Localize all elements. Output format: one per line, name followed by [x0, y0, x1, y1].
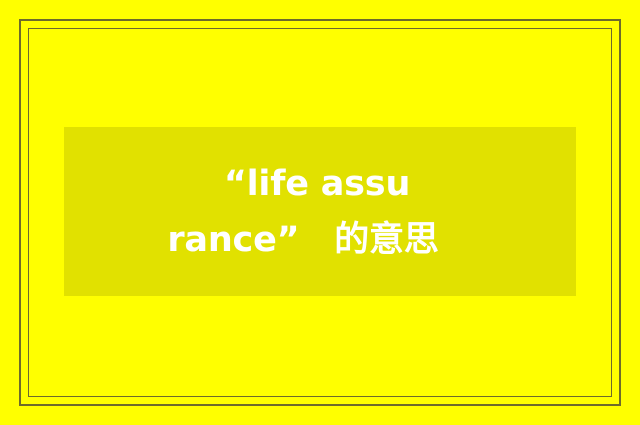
- title-card: “life assu rance” 的意思: [0, 0, 640, 425]
- title-text-block: “life assu rance” 的意思: [64, 127, 576, 296]
- title-line-1: “life assu: [224, 156, 410, 212]
- title-line-2: rance” 的意思: [167, 212, 438, 268]
